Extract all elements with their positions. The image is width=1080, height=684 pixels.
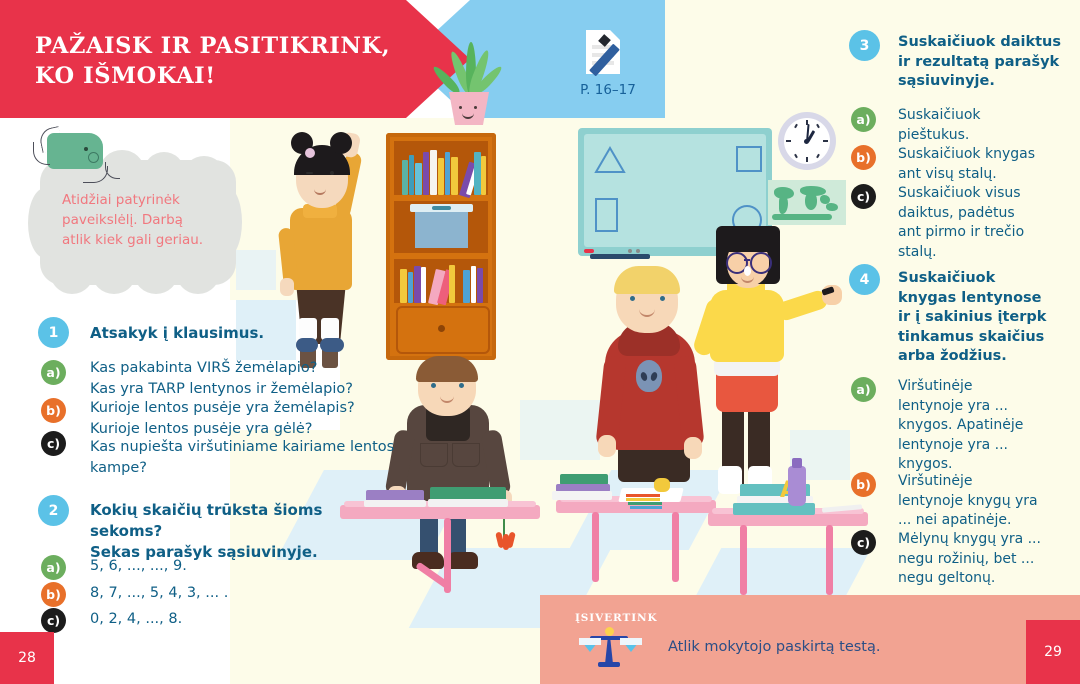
- item-letter-b: b): [851, 145, 876, 170]
- task-1-heading: Atsakyk į klausimus.: [90, 323, 380, 344]
- chalk: [636, 249, 640, 253]
- task-number-badge-3: 3: [849, 30, 880, 61]
- book: [449, 265, 455, 303]
- book: [474, 152, 481, 195]
- storage-box-handle: [432, 206, 451, 210]
- book: [428, 499, 508, 507]
- item-letter-c: c): [41, 431, 66, 456]
- storage-box: [415, 212, 468, 248]
- task-2-heading: Kokių skaičių trūksta šioms sekoms? Seka…: [90, 500, 390, 563]
- task-2-item-a-text: 5, 6, ..., ..., 9.: [90, 556, 390, 577]
- book: [438, 158, 444, 195]
- book: [477, 268, 483, 303]
- book: [451, 157, 458, 195]
- task-number-badge-1: 1: [38, 317, 69, 348]
- book: [414, 266, 421, 303]
- floor-tile: [236, 250, 276, 290]
- star-sticker: [654, 478, 670, 492]
- item-letter-b: b): [41, 582, 66, 607]
- task-3-item-b-text: Suskaičiuok knygas ant visų stalų.: [898, 145, 1078, 184]
- triangle-shape: [596, 148, 624, 174]
- task-4-item-c-text: Mėlynų knygų yra ... negu rožinių, bet .…: [898, 530, 1078, 589]
- book: [402, 160, 408, 195]
- item-letter-a: a): [41, 555, 66, 580]
- chalk: [628, 249, 632, 253]
- book: [423, 152, 429, 195]
- page-number-left: 28: [0, 632, 54, 684]
- item-letter-a: a): [851, 107, 876, 132]
- chalk: [584, 249, 594, 253]
- task-1-item-b-text: Kurioje lentos pusėje yra žemėlapis? Kur…: [90, 398, 420, 439]
- bottle-cap: [792, 458, 802, 468]
- textbook-spread: PAŽAISK IR PASITIKRINK, KO IŠMOKAI! P. 1…: [0, 0, 1080, 684]
- task-2-item-c-text: 0, 2, 4, ..., 8.: [90, 609, 390, 630]
- item-letter-c: c): [41, 608, 66, 633]
- item-letter-a: a): [851, 377, 876, 402]
- page-title-line2: KO IŠMOKAI!: [35, 61, 395, 91]
- task-4-heading: Suskaičiuok knygas lentynose ir į sakini…: [898, 269, 1078, 367]
- book: [408, 272, 413, 303]
- rectangle-shape: [595, 198, 618, 232]
- item-letter-b: b): [41, 398, 66, 423]
- book: [471, 266, 476, 303]
- book: [481, 156, 486, 195]
- page-number-right: 29: [1026, 620, 1080, 684]
- task-1-item-a-text: Kas pakabinta VIRŠ žemėlapio? Kas yra TA…: [90, 358, 420, 399]
- task-2-item-b-text: 8, 7, ..., 5, 4, 3, ... .: [90, 583, 390, 604]
- task-number-badge-2: 2: [38, 495, 69, 526]
- water-bottle: [788, 466, 806, 506]
- task-3-item-a-text: Suskaičiuok pieštukus.: [898, 106, 1078, 145]
- task-3-heading: Suskaičiuok daiktus ir rezultatą parašyk…: [898, 33, 1078, 92]
- task-4-item-b-text: Viršutinėje lentynoje knygų yra ... nei …: [898, 472, 1078, 531]
- glasses-right-lens: [750, 252, 772, 274]
- item-letter-c: c): [851, 184, 876, 209]
- item-letter-a: a): [41, 360, 66, 385]
- task-number-badge-4: 4: [849, 264, 880, 295]
- pencil: [626, 494, 660, 497]
- pencil: [630, 506, 662, 509]
- book: [409, 155, 414, 195]
- clock-center: [804, 139, 809, 144]
- document-pencil-icon: [586, 30, 626, 78]
- page-title: PAŽAISK IR PASITIKRINK, KO IŠMOKAI!: [35, 31, 395, 91]
- item-letter-c: c): [851, 530, 876, 555]
- page-title-line1: PAŽAISK IR PASITIKRINK,: [35, 31, 395, 61]
- floor-tile: [520, 400, 600, 460]
- square-shape: [736, 146, 762, 172]
- drawer-knob: [438, 325, 445, 332]
- pencil: [628, 502, 662, 505]
- task-4-item-a-text: Viršutinėje lentynoje yra ... knygos. Ap…: [898, 377, 1078, 475]
- book: [415, 163, 422, 195]
- self-assessment-text: Atlik mokytojo paskirtą testą.: [668, 639, 881, 655]
- chalk-tray: [590, 254, 650, 259]
- book: [430, 150, 437, 195]
- book: [552, 491, 612, 500]
- task-3-item-c-text: Suskaičiuok visus daiktus, padėtus ant p…: [898, 184, 1078, 262]
- hint-text: Atidžiai patyrinėk paveikslėlį. Darbą at…: [62, 190, 232, 250]
- item-letter-b: b): [851, 472, 876, 497]
- plant-pot: [449, 92, 489, 125]
- self-assessment-title: ĮSIVERTINK: [575, 612, 658, 624]
- task-1-item-c-text: Kas nupiešta viršutiniame kairiame lento…: [90, 437, 420, 478]
- book: [400, 269, 407, 303]
- book: [463, 270, 470, 303]
- pencil: [626, 498, 660, 501]
- page-ref-label: P. 16–17: [563, 82, 653, 98]
- book: [445, 152, 450, 195]
- book: [421, 267, 426, 303]
